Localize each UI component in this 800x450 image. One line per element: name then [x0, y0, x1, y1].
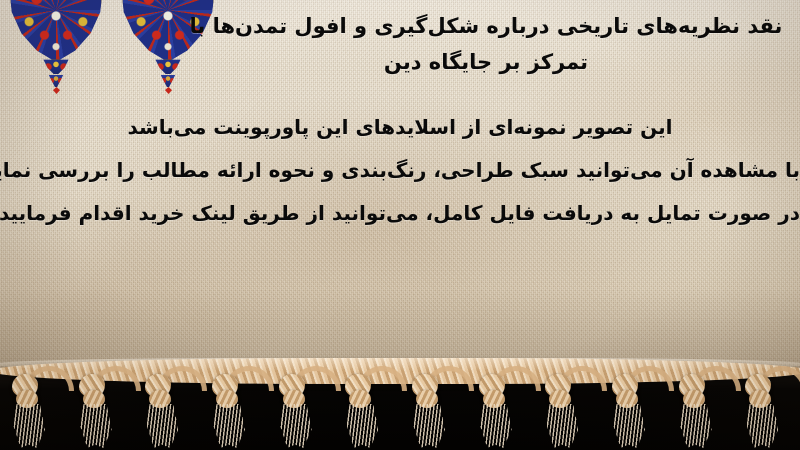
tassel-strands — [146, 404, 178, 448]
fringe-tassel — [204, 374, 248, 446]
tassel-strands — [680, 404, 712, 448]
slide-body-line-1: این تصویر نمونه‌ای از اسلایدهای این پاور… — [0, 106, 800, 149]
fringe-tassel — [271, 374, 315, 446]
fringe-tassel — [737, 374, 781, 446]
fringe-tassel — [604, 374, 648, 446]
medallion-pendant-large — [41, 58, 71, 74]
fringe-tassel — [671, 374, 715, 446]
slide-body-text: این تصویر نمونه‌ای از اسلایدهای این پاور… — [0, 106, 800, 235]
slide-body-line-2: با مشاهده آن می‌توانید سبک طراحی، رنگ‌بن… — [0, 149, 800, 192]
fringe-tassel — [404, 374, 448, 446]
tassel-strands — [80, 404, 112, 448]
medallion-gold-rim — [8, 0, 104, 62]
tassel-strands — [480, 404, 512, 448]
slide-body-line-3: در صورت تمایل به دریافت فایل کامل، می‌تو… — [0, 192, 800, 235]
tassel-strands — [413, 404, 445, 448]
fringe-tassel — [471, 374, 515, 446]
slide-canvas: نقد نظریه‌های تاریخی درباره شکل‌گیری و ا… — [0, 0, 800, 450]
tassel-strands — [13, 404, 45, 448]
slide-title-line-1: نقد نظریه‌های تاریخی درباره شکل‌گیری و ا… — [186, 8, 786, 44]
slide-title: نقد نظریه‌های تاریخی درباره شکل‌گیری و ا… — [186, 8, 786, 80]
tassel-strands — [746, 404, 778, 448]
fringe-tassel — [537, 374, 581, 446]
tassel-strands — [546, 404, 578, 448]
illumination-medallion-icon — [8, 0, 104, 74]
fringe-tassel — [71, 374, 115, 446]
fringe-tassel — [4, 374, 48, 446]
fringe-tassel — [337, 374, 381, 446]
tassel-strands — [346, 404, 378, 448]
medallion-pendant-large — [153, 58, 183, 74]
carpet-fringe — [0, 352, 800, 450]
tassel-strands — [213, 404, 245, 448]
slide-title-line-2: تمرکز بر جایگاه دین — [186, 44, 786, 80]
fringe-tassel — [137, 374, 181, 446]
tassel-strands — [613, 404, 645, 448]
tassel-strands — [280, 404, 312, 448]
